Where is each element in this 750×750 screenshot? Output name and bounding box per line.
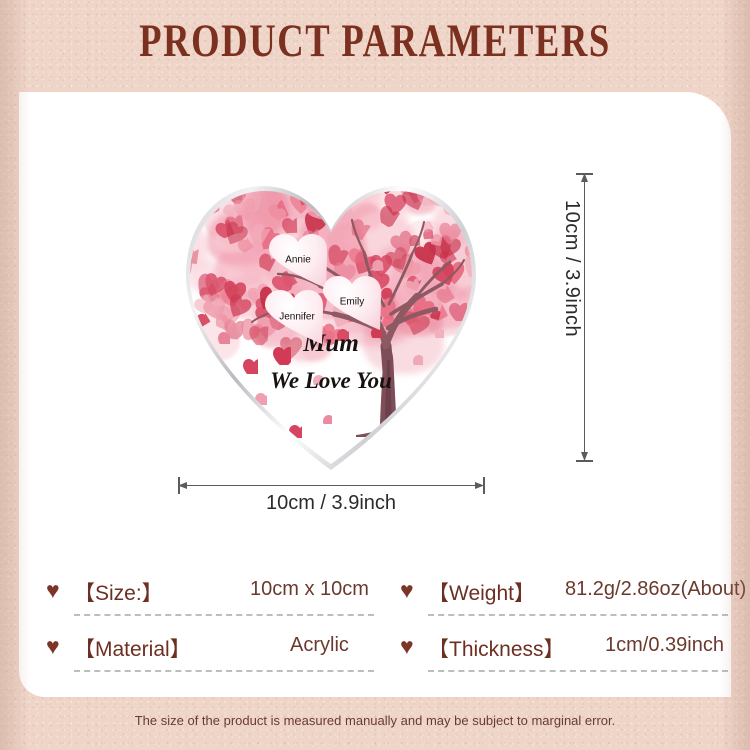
spec-label-material: 【Material】 [74, 633, 191, 663]
plaque-artwork: Mum We Love You Annie Emily Jennifer [184, 178, 478, 466]
spec-divider [74, 614, 374, 616]
heart-icon: ♥ [46, 635, 60, 658]
spec-row-size: ♥ 【Size:】 10cm x 10cm [46, 575, 386, 619]
height-dimension-label: 10cm / 3.9inch [560, 200, 583, 337]
plaque-face: Mum We Love You Annie Emily Jennifer [184, 178, 478, 466]
name-heart-3-label: Jennifer [262, 312, 332, 323]
heart-icon: ♥ [46, 579, 60, 602]
width-dimension-label: 10cm / 3.9inch [178, 492, 484, 515]
spec-label-size: 【Size:】 [74, 577, 163, 607]
heart-icon: ♥ [400, 635, 414, 658]
spec-value-weight: 81.2g/2.86oz(About) [565, 578, 746, 601]
footer-note: The size of the product is measured manu… [0, 713, 750, 728]
name-heart-1-label: Annie [266, 255, 330, 266]
spec-divider [428, 614, 728, 616]
spec-row-weight: ♥ 【Weight】 81.2g/2.86oz(About) [400, 575, 730, 619]
message-line-2: We Love You [184, 368, 478, 394]
spec-row-thickness: ♥ 【Thickness】 1cm/0.39inch [400, 631, 730, 675]
page-title: PRODUCT PARAMETERS [83, 14, 668, 68]
spec-divider [428, 670, 728, 672]
spec-value-material: Acrylic [290, 634, 349, 657]
spec-divider [74, 670, 374, 672]
width-arrowheads [178, 479, 484, 492]
spec-value-size: 10cm x 10cm [250, 578, 369, 601]
spec-value-thickness: 1cm/0.39inch [605, 634, 724, 657]
spec-label-weight: 【Weight】 [428, 577, 535, 607]
product-image: Mum We Love You Annie Emily Jennifer [178, 172, 484, 472]
spec-row-material: ♥ 【Material】 Acrylic [46, 631, 386, 675]
spec-label-thickness: 【Thickness】 [428, 633, 565, 663]
name-heart-3: Jennifer [262, 288, 332, 348]
heart-icon: ♥ [400, 579, 414, 602]
